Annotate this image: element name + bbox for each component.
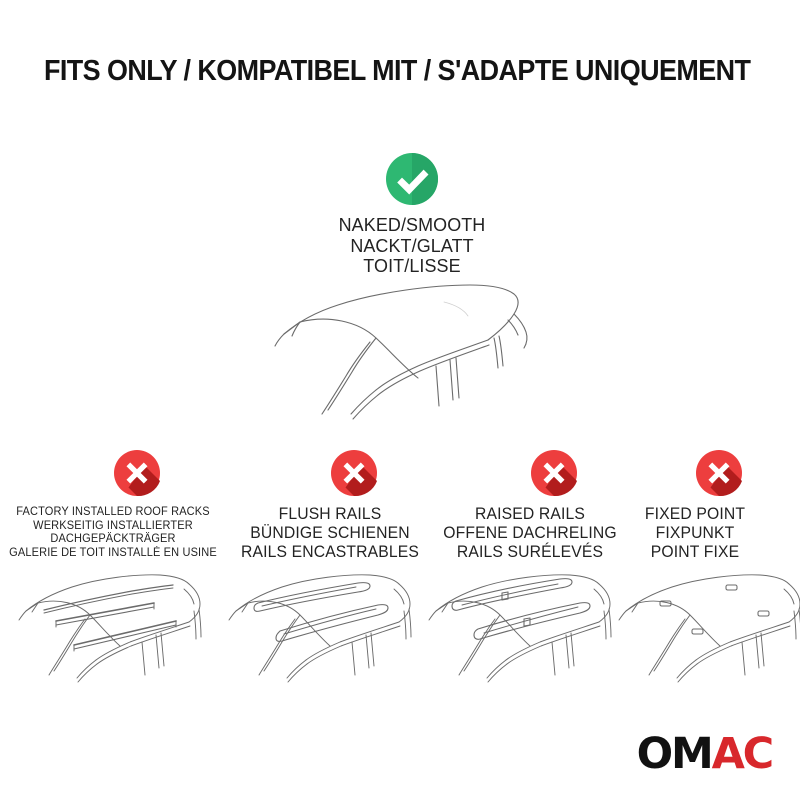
omac-logo: OMAC	[637, 732, 772, 776]
label-de-2: DACHGEPÄCKTRÄGER	[8, 532, 219, 546]
car-roof-with-crossbars-illustration	[8, 549, 223, 699]
red-x-circle-icon	[530, 449, 578, 497]
roof-type-flush-rails: FLUSH RAILS BÜNDIGE SCHIENEN RAILS ENCAS…	[222, 449, 438, 562]
label-en: FACTORY INSTALLED ROOF RACKS	[8, 505, 219, 519]
label-de: FIXPUNKT	[616, 524, 773, 543]
red-x-circle-icon	[330, 449, 378, 497]
roof-type-raised-rails: RAISED RAILS OFFENE DACHRELING RAILS SUR…	[424, 449, 636, 562]
red-x-circle-icon	[113, 449, 161, 497]
red-x-circle-icon	[695, 449, 743, 497]
car-roof-naked-smooth-illustration	[258, 272, 578, 437]
label-de: OFFENE DACHRELING	[427, 524, 633, 543]
label-en: FIXED POINT	[616, 505, 773, 524]
green-check-circle-icon	[385, 152, 439, 206]
car-roof-raised-rails-illustration	[418, 549, 633, 699]
car-roof-fixed-point-illustration	[608, 549, 800, 699]
label-en: RAISED RAILS	[427, 505, 633, 524]
label-de: BÜNDIGE SCHIENEN	[225, 524, 435, 543]
car-roof-flush-rails-illustration	[218, 549, 433, 699]
label-en: NAKED/SMOOTH	[267, 215, 558, 236]
compatible-roof-type: NAKED/SMOOTH NACKT/GLATT TOIT/LISSE	[262, 152, 562, 277]
roof-type-factory-installed-roof-racks: FACTORY INSTALLED ROOF RACKS WERKSEITIG …	[2, 449, 224, 559]
label-en: FLUSH RAILS	[225, 505, 435, 524]
label-de: NACKT/GLATT	[267, 236, 558, 257]
label-de-1: WERKSEITIG INSTALLIERTER	[8, 519, 219, 533]
page-title: FITS ONLY / KOMPATIBEL MIT / S'ADAPTE UN…	[44, 54, 734, 88]
roof-type-fixed-point: FIXED POINT FIXPUNKT POINT FIXE	[614, 449, 776, 562]
compatible-roof-labels: NAKED/SMOOTH NACKT/GLATT TOIT/LISSE	[262, 215, 562, 277]
logo-text-om: OM	[637, 729, 712, 779]
logo-text-ac: AC	[712, 729, 772, 779]
